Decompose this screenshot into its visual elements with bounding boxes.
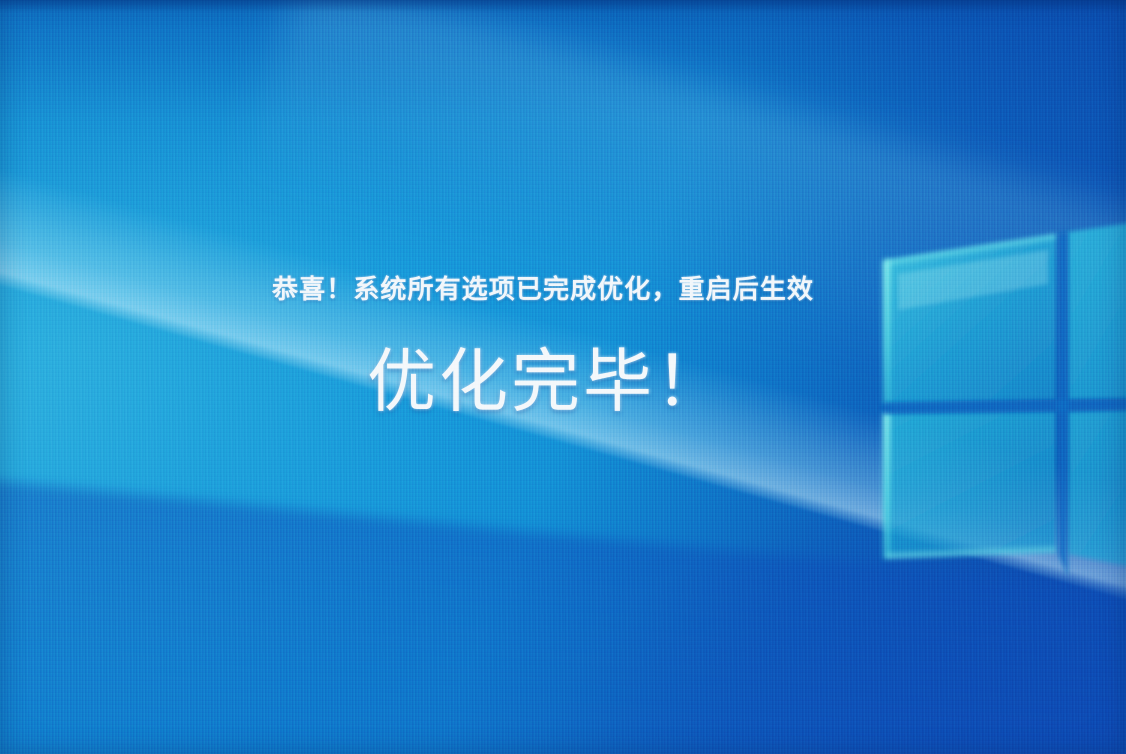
monitor-photo-screen: 恭喜！系统所有选项已完成优化，重启后生效 优化完毕！ bbox=[0, 0, 1126, 754]
wallpaper-bottomright-shade bbox=[0, 0, 1126, 754]
